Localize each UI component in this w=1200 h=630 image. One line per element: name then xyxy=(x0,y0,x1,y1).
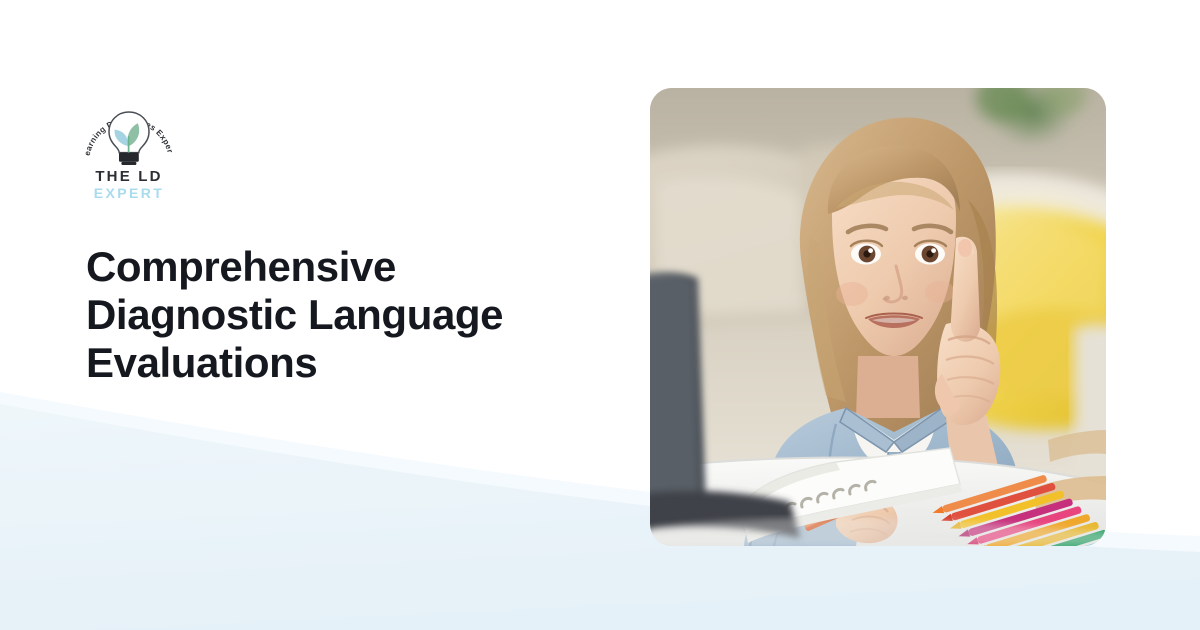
page-title: Comprehensive Diagnostic Language Evalua… xyxy=(86,243,556,387)
hero-photo xyxy=(650,88,1106,546)
hero-photo-illustration xyxy=(650,88,1106,546)
headline-line-1: Comprehensive xyxy=(86,243,556,291)
brand-logo[interactable]: Learning Differences Experts THE LD EXPE… xyxy=(78,92,180,200)
logo-wordmark: THE LD EXPERT xyxy=(78,168,180,201)
logo-wordmark-line2: EXPERT xyxy=(78,185,180,201)
lightbulb-with-leaves-icon: Learning Differences Experts xyxy=(78,92,180,170)
headline-line-2: Diagnostic Language xyxy=(86,291,556,339)
headline-line-3: Evaluations xyxy=(86,339,556,387)
promo-banner: Learning Differences Experts THE LD EXPE… xyxy=(0,0,1200,630)
logo-wordmark-line1: THE LD xyxy=(78,168,180,185)
